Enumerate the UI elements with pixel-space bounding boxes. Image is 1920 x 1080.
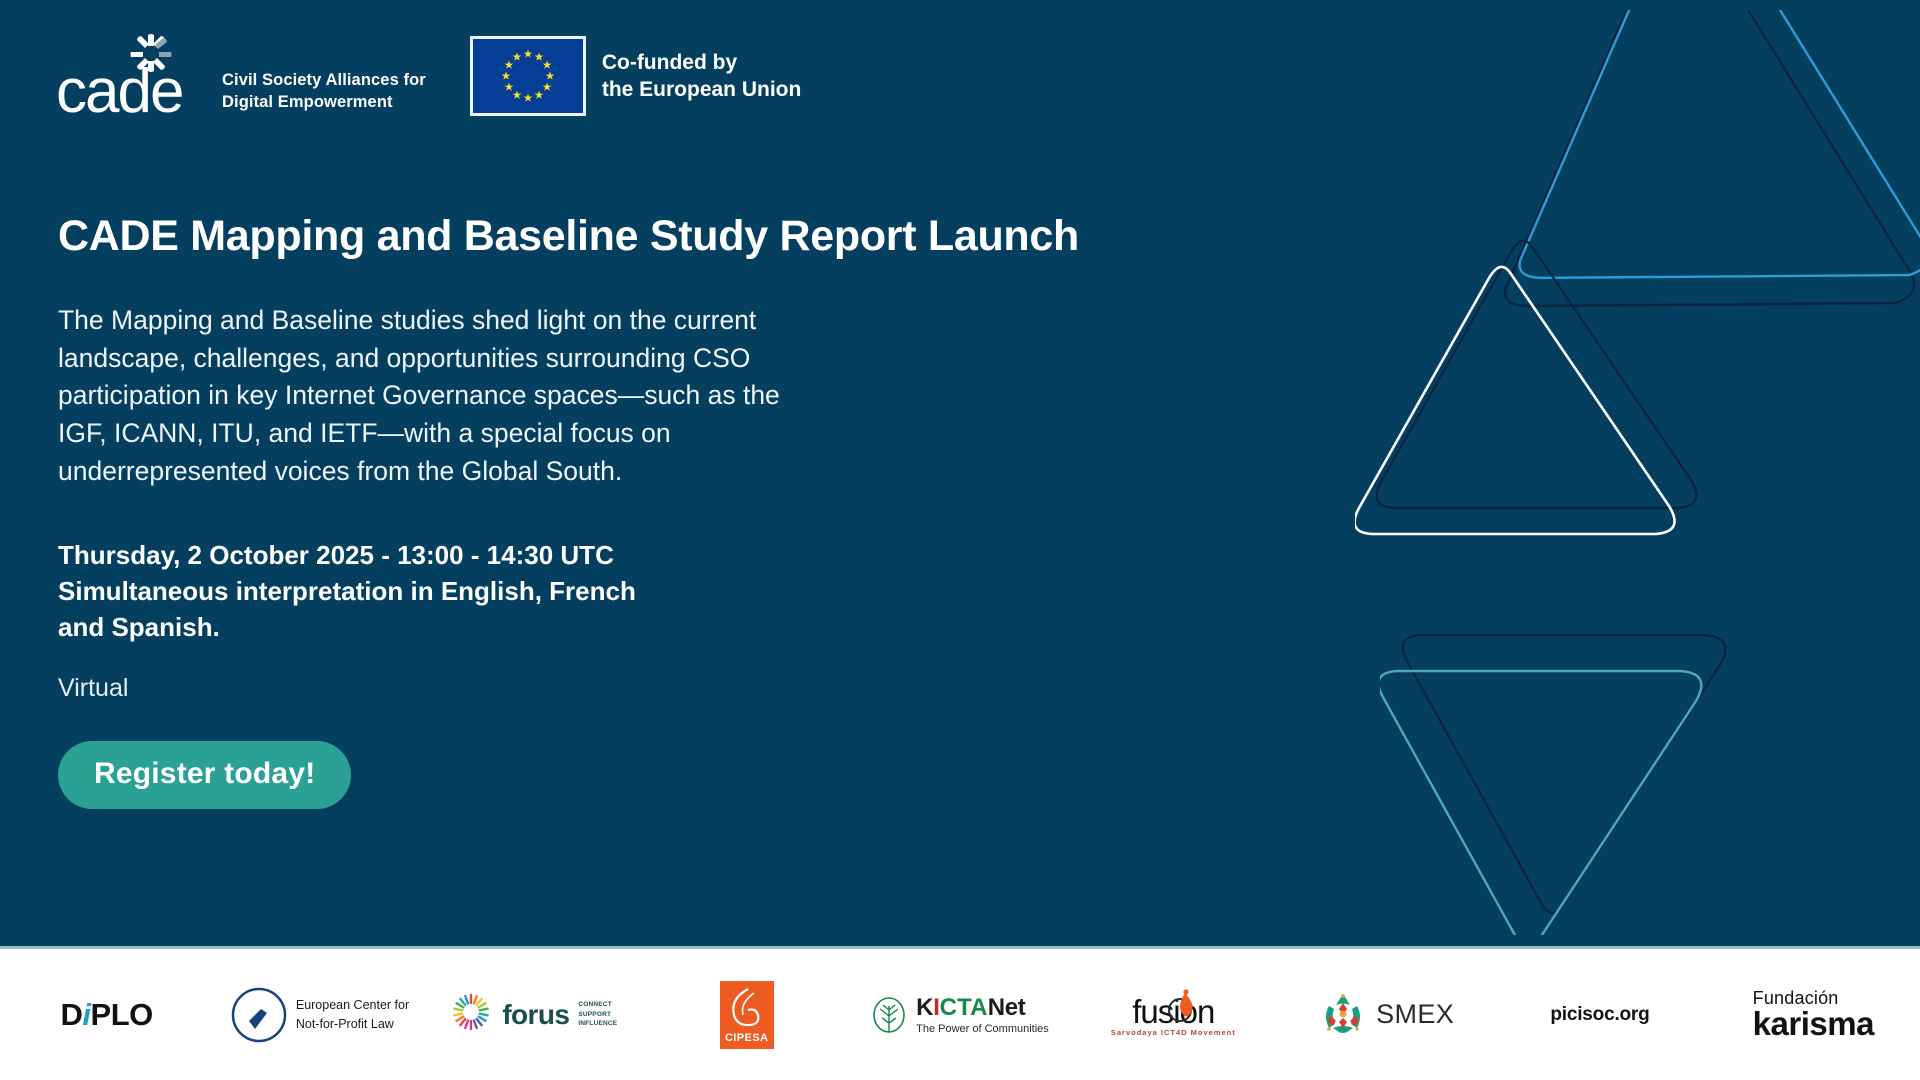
partner-logo-forus[interactable]: forus CONNECT SUPPORT INFLUENCE	[427, 949, 640, 1080]
forus-tagline: CONNECT SUPPORT INFLUENCE	[578, 1000, 617, 1029]
cade-logo: cade Civil Society Alliances for Digital…	[56, 32, 426, 120]
picisoc-wordmark: picisoc.org	[1550, 1004, 1649, 1026]
page-title: CADE Mapping and Baseline Study Report L…	[58, 212, 1378, 260]
partner-logo-fusion[interactable]: fusion Sarvodaya ICT4D Movement	[1067, 949, 1280, 1080]
diplo-wordmark: DiPLO	[61, 997, 153, 1033]
header-logo-row: cade Civil Society Alliances for Digital…	[56, 32, 801, 120]
eu-cofunded-label: Co-funded by the European Union	[602, 49, 802, 104]
hero-content: CADE Mapping and Baseline Study Report L…	[58, 212, 1378, 809]
partner-logo-ecnl[interactable]: European Center for Not-for-Profit Law	[213, 949, 426, 1080]
cade-sunburst-icon: cade	[56, 32, 206, 120]
partner-logo-picisoc[interactable]: picisoc.org	[1493, 949, 1706, 1080]
kictanet-tagline: The Power of Communities	[916, 1023, 1049, 1035]
forus-wordmark: forus	[502, 999, 569, 1031]
ecnl-label: European Center for Not-for-Profit Law	[296, 996, 409, 1032]
forus-sunburst-icon	[449, 990, 493, 1039]
decorative-triangle-middle	[1355, 230, 1715, 540]
partner-logo-diplo[interactable]: DiPLO	[0, 949, 213, 1080]
decorative-triangle-bottom	[1380, 605, 1740, 935]
fusion-flame-icon	[1165, 989, 1199, 1025]
partner-logo-kictanet[interactable]: KICTANet The Power of Communities	[853, 949, 1066, 1080]
smex-wordmark: SMEX	[1376, 999, 1454, 1030]
event-poster: cade Civil Society Alliances for Digital…	[0, 0, 1920, 1080]
european-union-flag-icon	[470, 36, 586, 116]
svg-text:cade: cade	[56, 57, 182, 120]
hero-panel: cade Civil Society Alliances for Digital…	[0, 0, 1920, 946]
event-datetime: Thursday, 2 October 2025 - 13:00 - 14:30…	[58, 538, 1378, 646]
kictanet-wordmark: KICTANet	[916, 994, 1049, 1022]
register-button[interactable]: Register today!	[58, 741, 351, 809]
event-description: The Mapping and Baseline studies shed li…	[58, 302, 1118, 490]
ecnl-icon	[231, 987, 287, 1043]
partner-logo-bar: DiPLO European Center for Not-for-Profit…	[0, 949, 1920, 1080]
cade-tagline: Civil Society Alliances for Digital Empo…	[222, 70, 426, 120]
smex-icon	[1319, 991, 1367, 1039]
karisma-fundacion-label: Fundación	[1753, 989, 1839, 1007]
karisma-wordmark: karisma	[1753, 1007, 1874, 1041]
event-venue: Virtual	[58, 674, 1378, 703]
cipesa-icon: CIPESA	[720, 981, 774, 1049]
decorative-triangle-top	[1396, 10, 1920, 430]
partner-logo-smex[interactable]: SMEX	[1280, 949, 1493, 1080]
kictanet-leaf-icon	[871, 996, 907, 1034]
partner-logo-cipesa[interactable]: CIPESA	[640, 949, 853, 1080]
partner-logo-karisma[interactable]: Fundación karisma	[1707, 949, 1920, 1080]
eu-cofunded-logo: Co-funded by the European Union	[470, 36, 802, 116]
